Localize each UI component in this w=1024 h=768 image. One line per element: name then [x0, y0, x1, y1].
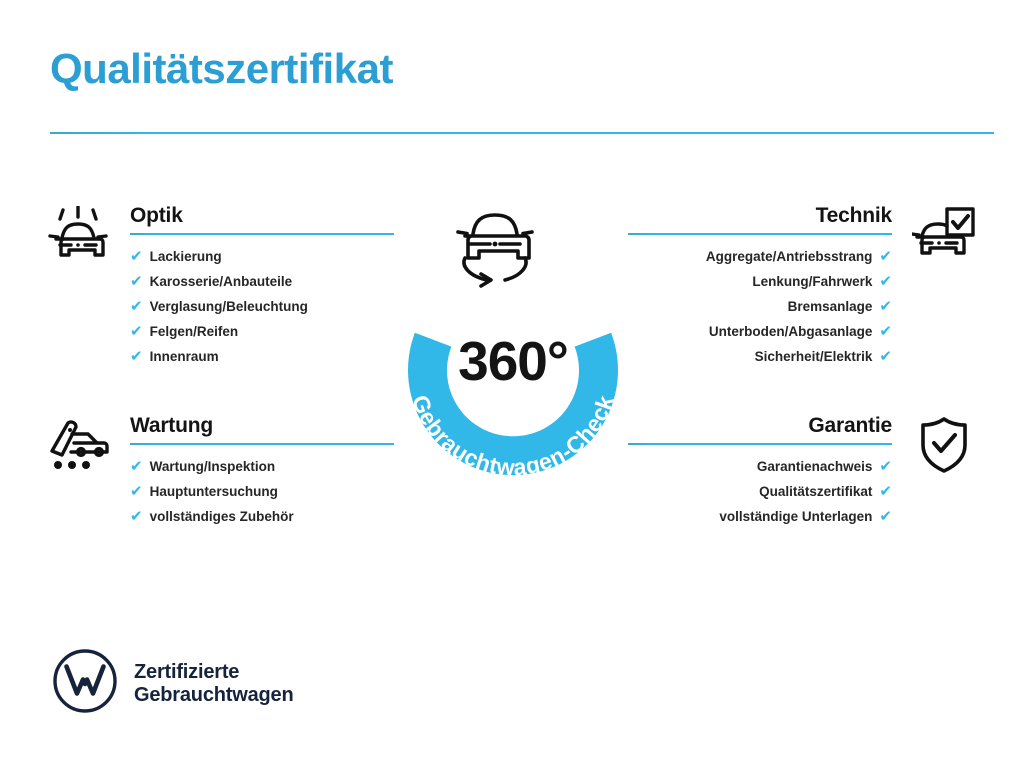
vw-logo: [52, 648, 118, 719]
section-underline: [628, 443, 892, 445]
list-item: Bremsanlage ✔: [628, 299, 892, 324]
list-item: ✔ Lackierung: [130, 249, 394, 274]
list-item-label: Garantienachweis: [757, 460, 873, 474]
list-item: ✔ Wartung/Inspektion: [130, 459, 394, 484]
section-heading: Technik: [628, 204, 892, 233]
check-icon: ✔: [879, 459, 892, 474]
check-icon: ✔: [879, 484, 892, 499]
list-item-label: Aggregate/Antriebsstrang: [706, 250, 873, 264]
list-item-label: Innenraum: [150, 350, 219, 364]
check-icon: ✔: [130, 349, 143, 364]
list-item-label: Qualitätszertifikat: [759, 485, 872, 499]
list-item: Sicherheit/Elektrik ✔: [628, 349, 892, 374]
list-item-label: vollständiges Zubehör: [150, 510, 294, 524]
list-item-label: vollständige Unterlagen: [719, 510, 872, 524]
list-item-label: Sicherheit/Elektrik: [755, 350, 873, 364]
section-underline: [130, 233, 394, 235]
list-item-label: Felgen/Reifen: [150, 325, 239, 339]
list-item: ✔ vollständiges Zubehör: [130, 509, 394, 534]
section-optik: Optik ✔ Lackierung ✔ Karosserie/Anbautei…: [44, 204, 394, 374]
check-icon: ✔: [879, 299, 892, 314]
car-rotation-icon: [458, 215, 532, 286]
vw-lockup-line2: Gebrauchtwagen: [134, 684, 293, 707]
check-icon: ✔: [130, 249, 143, 264]
checklist-wartung: ✔ Wartung/Inspektion ✔ Hauptuntersuchung…: [130, 459, 394, 534]
list-item-label: Lackierung: [150, 250, 222, 264]
checklist-optik: ✔ Lackierung ✔ Karosserie/Anbauteile ✔ V…: [130, 249, 394, 374]
section-technik: Technik Aggregate/Antriebsstrang ✔ Lenku…: [628, 204, 978, 374]
list-item-label: Karosserie/Anbauteile: [150, 275, 293, 289]
list-item: Aggregate/Antriebsstrang ✔: [628, 249, 892, 274]
vw-lockup-text: Zertifizierte Gebrauchtwagen: [134, 661, 293, 707]
list-item-label: Verglasung/Beleuchtung: [150, 300, 308, 314]
section-heading: Optik: [130, 204, 394, 233]
check-icon: ✔: [130, 509, 143, 524]
list-item: ✔ Hauptuntersuchung: [130, 484, 394, 509]
check-icon: ✔: [130, 459, 143, 474]
list-item: vollständige Unterlagen ✔: [628, 509, 892, 534]
list-item: ✔ Felgen/Reifen: [130, 324, 394, 349]
list-item: ✔ Innenraum: [130, 349, 394, 374]
list-item-label: Wartung/Inspektion: [150, 460, 276, 474]
list-item: ✔ Verglasung/Beleuchtung: [130, 299, 394, 324]
list-item-label: Hauptuntersuchung: [150, 485, 278, 499]
shield-check-icon: [910, 414, 978, 476]
list-item: Lenkung/Fahrwerk ✔: [628, 274, 892, 299]
check-icon: ✔: [130, 274, 143, 289]
360-check-badge: Gebrauchtwagen-Check 360°: [372, 196, 654, 492]
page-title: Qualitätszertifikat: [50, 48, 393, 90]
check-icon: ✔: [130, 484, 143, 499]
list-item-label: Unterboden/Abgasanlage: [709, 325, 873, 339]
section-wartung: Wartung ✔ Wartung/Inspektion ✔ Hauptunte…: [44, 414, 394, 534]
badge-number: 360°: [372, 334, 654, 389]
check-icon: ✔: [130, 299, 143, 314]
list-item-label: Bremsanlage: [788, 300, 873, 314]
section-underline: [130, 443, 394, 445]
section-underline: [628, 233, 892, 235]
service-car-icon: [44, 414, 112, 476]
check-icon: ✔: [879, 274, 892, 289]
list-item: Garantienachweis ✔: [628, 459, 892, 484]
check-icon: ✔: [879, 249, 892, 264]
check-icon: ✔: [130, 324, 143, 339]
section-garantie: Garantie Garantienachweis ✔ Qualitätszer…: [628, 414, 978, 534]
vw-brand-lockup: Zertifizierte Gebrauchtwagen: [52, 648, 293, 719]
check-icon: ✔: [879, 324, 892, 339]
section-heading: Wartung: [130, 414, 394, 443]
section-heading: Garantie: [628, 414, 892, 443]
list-item: Qualitätszertifikat ✔: [628, 484, 892, 509]
car-checkbox-icon: [910, 204, 978, 266]
checklist-technik: Aggregate/Antriebsstrang ✔ Lenkung/Fahrw…: [628, 249, 892, 374]
list-item-label: Lenkung/Fahrwerk: [752, 275, 872, 289]
vw-lockup-line1: Zertifizierte: [134, 661, 293, 684]
list-item: Unterboden/Abgasanlage ✔: [628, 324, 892, 349]
list-item: ✔ Karosserie/Anbauteile: [130, 274, 394, 299]
check-icon: ✔: [879, 349, 892, 364]
check-icon: ✔: [879, 509, 892, 524]
checklist-garantie: Garantienachweis ✔ Qualitätszertifikat ✔…: [628, 459, 892, 534]
title-divider: [50, 132, 994, 134]
car-shine-icon: [44, 204, 112, 266]
